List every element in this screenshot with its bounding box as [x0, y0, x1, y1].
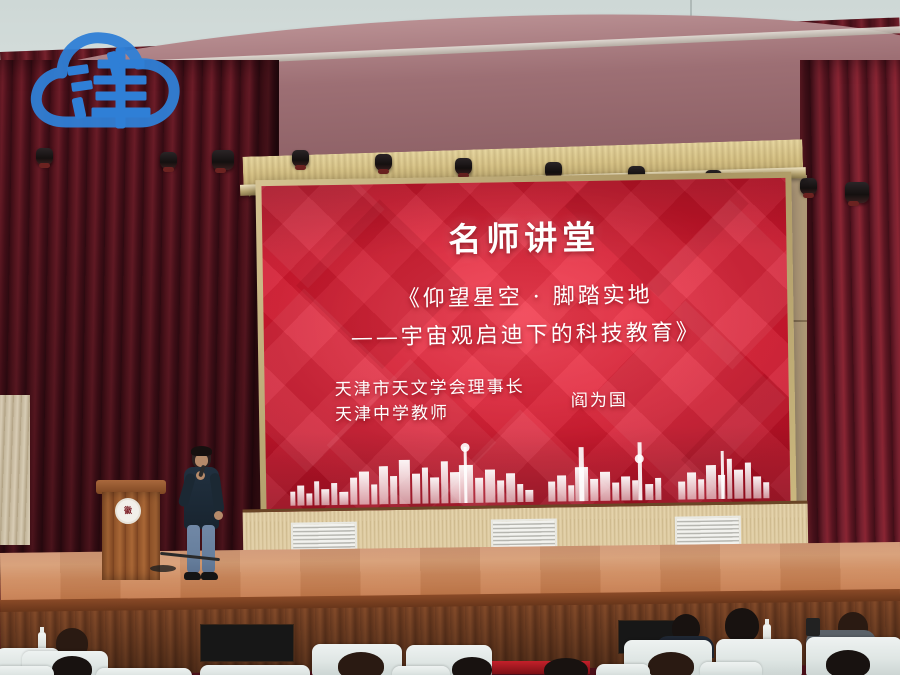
skyline-building [430, 477, 439, 503]
speaker-credential-line-2: 天津中学教师 [335, 400, 525, 428]
audience-head [838, 612, 868, 642]
skyline-building [645, 484, 653, 500]
stage-light-icon [800, 178, 817, 195]
stage-light-icon [455, 158, 472, 175]
skyline-building [745, 462, 752, 498]
skyline-building [371, 484, 377, 504]
audience-seat [596, 664, 650, 675]
curtain-highlight [726, 138, 750, 150]
curtain-highlight [806, 150, 828, 161]
microphone-icon [198, 465, 206, 478]
skyline-building [459, 465, 474, 503]
skyline-building [450, 472, 460, 503]
city-skyline-graphic [265, 428, 790, 506]
speaker-head [192, 447, 211, 469]
audience-seat [0, 648, 60, 675]
audience-seat [406, 645, 492, 675]
cream-side-drape [0, 395, 30, 545]
wall-monitor [618, 620, 686, 654]
seat-row-trim [668, 660, 704, 673]
skyline-building [590, 479, 598, 501]
curtain-highlight [662, 164, 682, 174]
stage-front-panel-shading [0, 601, 900, 675]
skyline-building [718, 475, 725, 499]
podium: 徽 [96, 480, 166, 580]
stage-front-panel [0, 601, 900, 675]
air-vent [491, 519, 558, 554]
skyline-building [632, 480, 638, 500]
stage-light-icon [292, 150, 309, 167]
skyline-building [557, 475, 566, 501]
speaker-credential-line-1: 天津市天文学会理事长 [334, 375, 524, 403]
audience-head [725, 608, 759, 642]
skyline-tower [579, 447, 585, 501]
slide-subtitle-line-2: ——宇宙观启迪下的科技教育》 [264, 313, 788, 353]
speaker-free-hand [214, 511, 223, 520]
speaker-mic-hand [196, 471, 205, 480]
audience-head [52, 656, 92, 675]
stage-light-icon [36, 148, 53, 165]
skyline-tv-tower [638, 442, 643, 500]
skyline-tower [464, 447, 468, 503]
skyline-building [497, 480, 504, 502]
speaker-right-arm [209, 472, 224, 513]
skyline-building [612, 483, 619, 501]
podium-emblem: 徽 [115, 498, 141, 524]
skyline-tower [721, 451, 725, 499]
skyline-building [290, 492, 295, 506]
audience-seat [624, 640, 712, 675]
skyline-building [621, 476, 630, 500]
skyline-building [399, 460, 411, 504]
audience-head [338, 652, 384, 675]
water-bottle [38, 632, 46, 654]
audience-seat [96, 668, 192, 675]
speaker-person [178, 447, 224, 582]
skyline-building [753, 476, 761, 498]
skyline-building [655, 478, 661, 500]
skyline-building [548, 482, 555, 502]
speaker-torso [184, 467, 219, 529]
stage-edge [0, 589, 900, 616]
audience-body [806, 630, 876, 656]
speaker-credentials: 天津市天文学会理事长 天津中学教师 [334, 375, 525, 427]
skyline-building [575, 467, 589, 501]
podium-emblem-text: 徽 [124, 507, 132, 515]
auditorium-stage-photo: 名师讲堂 《仰望星空 · 脚踏实地 ——宇宙观启迪下的科技教育》 天津市天文学会… [0, 0, 900, 675]
skyline-building [390, 476, 397, 504]
audience-head [672, 614, 700, 642]
audience-seat [806, 637, 900, 675]
tianjin-cloud-logo [24, 22, 192, 142]
audience-seat [22, 651, 108, 675]
air-vent [291, 522, 358, 557]
slide-credits: 天津市天文学会理事长 天津中学教师 阎为国 [334, 371, 755, 427]
stage-light-icon [845, 182, 869, 203]
skyline-building [475, 478, 483, 503]
audience-body [656, 636, 714, 658]
skyline-building [422, 468, 429, 504]
audience-seat [312, 644, 402, 675]
slide-subtitle-line-1: 《仰望星空 · 脚踏实地 [263, 275, 787, 315]
stage-light-icon [160, 152, 177, 169]
water-bottle [763, 624, 771, 646]
audience-head [544, 658, 588, 675]
skyline-building [306, 493, 312, 505]
audience-head [452, 657, 492, 675]
curtain-highlight [648, 124, 674, 137]
audience-head [56, 628, 88, 658]
speaker-right-leg [202, 525, 215, 573]
speaker-left-shoe [184, 572, 201, 580]
skyline-building [350, 478, 357, 505]
speaker-hair [191, 446, 212, 456]
below-screen-wall [243, 501, 809, 571]
skyline-building [517, 484, 523, 502]
skyline-building [331, 483, 337, 505]
led-screen: 名师讲堂 《仰望星空 · 脚踏实地 ——宇宙观启迪下的科技教育》 天津市天文学会… [261, 178, 790, 514]
seat-row-trim [480, 661, 590, 674]
speaker-face [195, 454, 208, 467]
skyline-building [525, 490, 533, 502]
skyline-building [568, 485, 574, 501]
stage-light-icon [212, 150, 234, 170]
audience-seat [716, 639, 802, 675]
skyline-building [379, 466, 389, 504]
skyline-building [600, 472, 610, 501]
led-screen-frame: 名师讲堂 《仰望星空 · 脚踏实地 ——宇宙观启迪下的科技教育》 天津市天文学会… [255, 172, 796, 520]
audience-seat [700, 662, 762, 675]
slide-title: 名师讲堂 [262, 208, 787, 264]
speaker-name: 阎为国 [571, 386, 628, 412]
audience-head [648, 652, 694, 675]
skyline-building [314, 481, 319, 505]
podium-top [96, 480, 166, 494]
skyline-building [441, 461, 449, 503]
skyline-building [706, 465, 717, 499]
audience-seat [0, 666, 54, 675]
stage-light-icon [375, 154, 392, 171]
skyline-building [698, 479, 704, 499]
skyline-building [412, 474, 420, 504]
skyline-building [339, 492, 348, 505]
curtain-highlight [548, 152, 570, 163]
skyline-building [359, 471, 370, 504]
audience-seat [392, 666, 450, 675]
skyline-building [321, 489, 329, 505]
skyline-building [687, 472, 696, 499]
skyline-building [485, 470, 496, 503]
audience-seat [200, 665, 310, 675]
skyline-building [506, 473, 515, 502]
speaker-left-leg [187, 525, 200, 573]
right-side-curtain [800, 60, 900, 580]
skyline-building [297, 486, 304, 506]
speaker-right-shoe [201, 572, 218, 580]
curtain-highlight [836, 166, 856, 176]
skyline-building [734, 470, 743, 499]
audience-head [826, 650, 870, 675]
skyline-building [678, 482, 685, 500]
wall-monitor [200, 624, 294, 662]
skyline-building [763, 482, 769, 498]
air-vent [675, 516, 742, 551]
curtain-highlight [424, 130, 444, 140]
skyline-building [727, 459, 733, 499]
speaker-left-arm [178, 472, 197, 507]
audience-phone [806, 618, 820, 636]
